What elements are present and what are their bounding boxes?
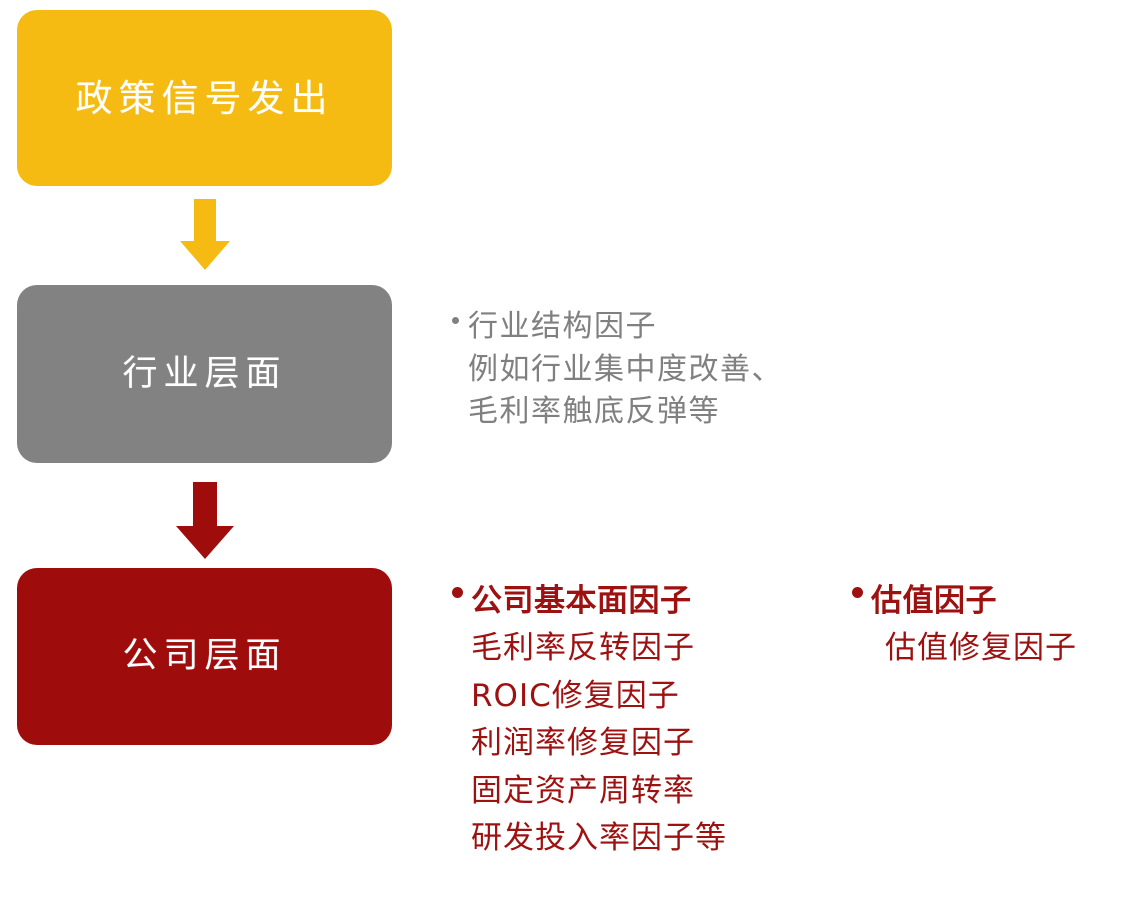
company-fundamental-factors-list: 公司基本面因子 毛利率反转因子 ROIC修复因子 利润率修复因子 固定资产周转率… (452, 578, 782, 863)
company-fundamental-factors-line-4: 固定资产周转率 (471, 768, 782, 815)
company-fundamental-factors-line-5: 研发投入率因子等 (471, 815, 782, 862)
industry-factors-heading: 行业结构因子 (468, 306, 872, 349)
company-fundamental-factors-line-3: 利润率修复因子 (471, 720, 782, 767)
industry-factors-list: 行业结构因子 例如行业集中度改善、 毛利率触底反弹等 (452, 306, 872, 434)
bullet-dot-icon (452, 317, 459, 324)
down-arrow-icon-policy-to-industry (179, 199, 231, 271)
valuation-factors-line-1: 估值修复因子 (871, 625, 1122, 672)
company-fundamental-factors-heading: 公司基本面因子 (471, 578, 782, 625)
down-arrow-icon-industry-to-company (175, 482, 235, 560)
company-fundamental-factors-line-2: ROIC修复因子 (471, 673, 782, 720)
bullet-dot-icon (852, 587, 863, 598)
company-level-label: 公司层面 (122, 639, 286, 674)
company-fundamental-factors-line-1: 毛利率反转因子 (471, 625, 782, 672)
valuation-factors-bullet-row: 估值因子 估值修复因子 (852, 578, 1122, 673)
industry-level-label: 行业层面 (122, 357, 286, 392)
company-level-box[interactable]: 公司层面 (17, 568, 392, 745)
valuation-factors-text: 估值因子 估值修复因子 (871, 578, 1122, 673)
industry-factors-bullet-row: 行业结构因子 例如行业集中度改善、 毛利率触底反弹等 (452, 306, 872, 434)
valuation-factors-heading: 估值因子 (871, 578, 1122, 625)
company-fundamental-factors-text: 公司基本面因子 毛利率反转因子 ROIC修复因子 利润率修复因子 固定资产周转率… (471, 578, 782, 863)
industry-factors-text: 行业结构因子 例如行业集中度改善、 毛利率触底反弹等 (468, 306, 872, 434)
industry-factors-line-1: 例如行业集中度改善、 (468, 349, 872, 392)
policy-signal-label: 政策信号发出 (76, 80, 334, 117)
bullet-dot-icon (452, 587, 463, 598)
industry-level-box[interactable]: 行业层面 (17, 285, 392, 463)
industry-factors-line-2: 毛利率触底反弹等 (468, 391, 872, 434)
company-fundamental-factors-bullet-row: 公司基本面因子 毛利率反转因子 ROIC修复因子 利润率修复因子 固定资产周转率… (452, 578, 782, 863)
policy-signal-box[interactable]: 政策信号发出 (17, 10, 392, 186)
valuation-factors-list: 估值因子 估值修复因子 (852, 578, 1122, 673)
